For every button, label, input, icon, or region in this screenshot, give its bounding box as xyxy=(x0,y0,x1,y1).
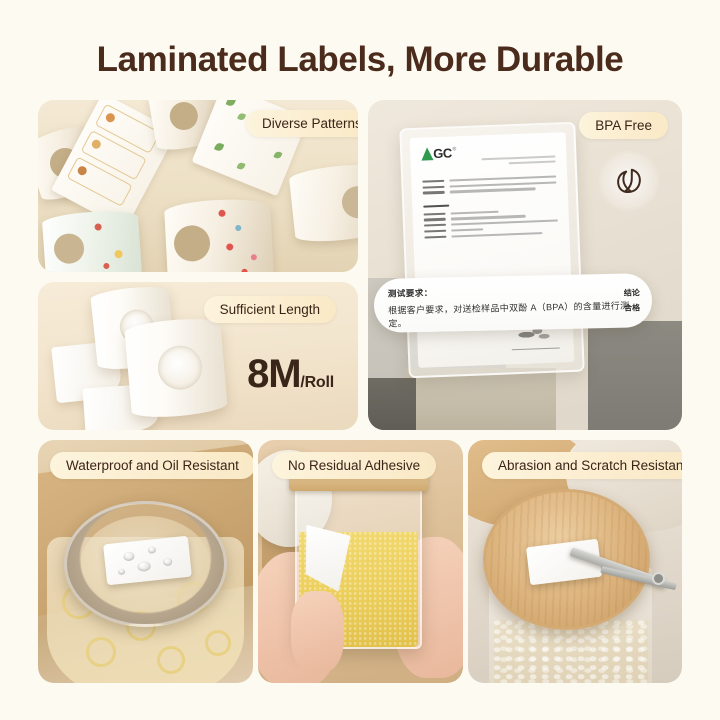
badge-diverse-patterns: Diverse Patterns xyxy=(246,110,358,137)
display-pedestal-dark xyxy=(368,378,416,430)
length-metric: 8M /Roll xyxy=(247,354,334,394)
badge-sufficient-length: Sufficient Length xyxy=(204,296,336,323)
acrylic-document-stand: GC ® xyxy=(399,122,584,379)
panel-waterproof-oil-resistant: Waterproof and Oil Resistant xyxy=(38,440,253,683)
panel-no-residual-adhesive: No Residual Adhesive xyxy=(258,440,463,683)
label-roll-front xyxy=(124,316,228,420)
bamboo-lid xyxy=(483,489,650,630)
panel-abrasion-scratch-resistant: Abrasion and Scratch Resistant xyxy=(468,440,682,683)
metric-value: 8M xyxy=(247,354,300,394)
badge-waterproof-oil-resistant: Waterproof and Oil Resistant xyxy=(50,452,253,479)
page-title: Laminated Labels, More Durable xyxy=(0,40,720,80)
report-fields-2 xyxy=(424,208,559,238)
badge-bpa-free: BPA Free xyxy=(579,112,668,139)
signature-line xyxy=(512,347,560,350)
agc-triangle-icon xyxy=(421,147,433,160)
panel-diverse-patterns: Diverse Patterns xyxy=(38,100,358,272)
badge-abrasion-scratch-resistant: Abrasion and Scratch Resistant xyxy=(482,452,682,479)
report-meta xyxy=(481,152,555,167)
label-roll xyxy=(288,161,358,245)
label-roll xyxy=(42,209,143,272)
label-roll xyxy=(164,197,274,272)
eco-leaf-badge xyxy=(598,150,660,212)
metric-unit: /Roll xyxy=(300,374,334,392)
panel-bpa-free: GC ® 测试要求： 根据客户要求，对送检 xyxy=(368,100,682,430)
test-report-document: GC ® xyxy=(410,132,575,368)
panel-background-wall-right xyxy=(588,321,682,430)
panel-sufficient-length: 8M /Roll Sufficient Length xyxy=(38,282,358,430)
scissors-pivot xyxy=(654,574,663,583)
badge-no-residual-adhesive: No Residual Adhesive xyxy=(272,452,436,479)
jar-lid-ring xyxy=(64,501,227,627)
label-sticker xyxy=(103,536,192,586)
leaf-eco-icon xyxy=(614,166,644,196)
thumb xyxy=(291,591,344,674)
test-conclusion: 结论 合格 xyxy=(624,285,641,315)
test-requirement-callout: 测试要求： 根据客户要求，对送检样品中双酚 A（BPA）的含量进行测定。 结论 … xyxy=(373,273,652,333)
report-fields xyxy=(422,175,556,194)
